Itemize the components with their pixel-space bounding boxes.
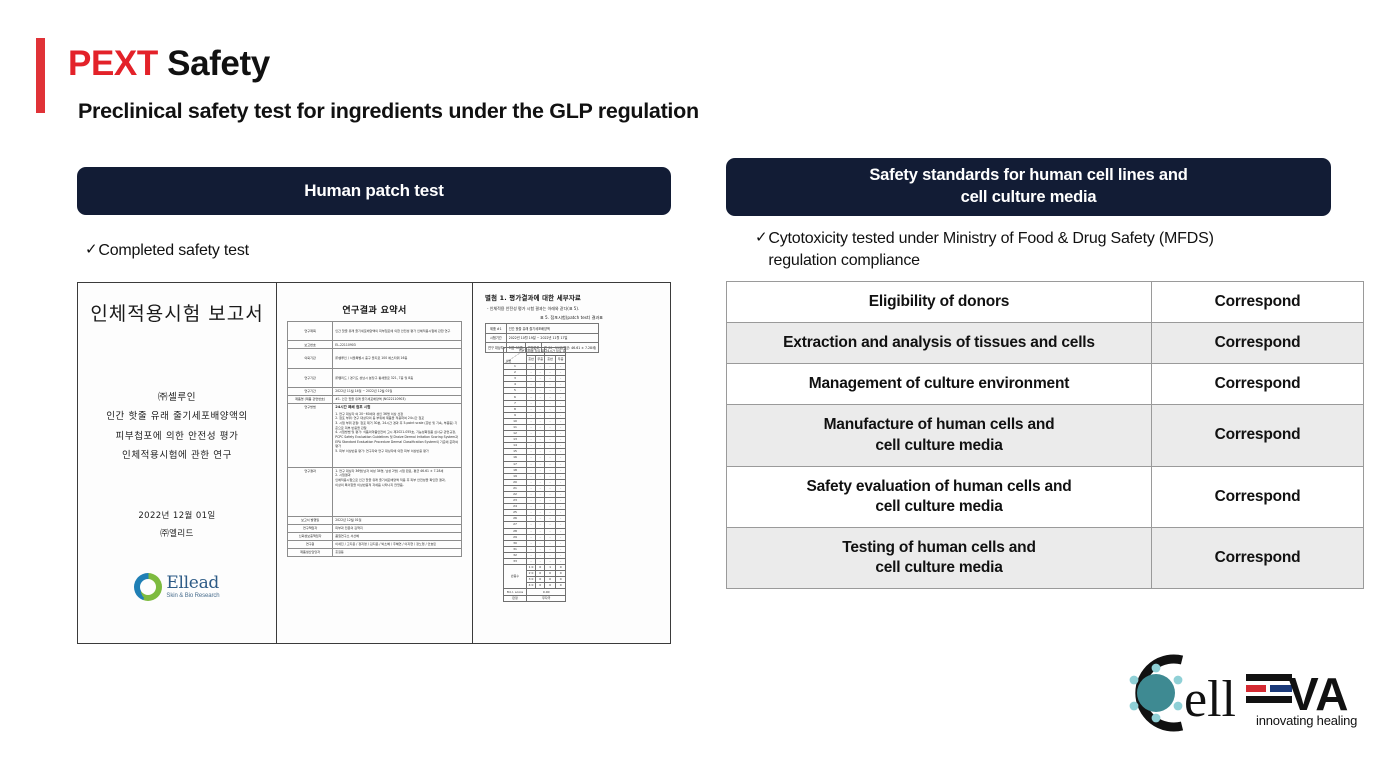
status-badge: Correspond [1152, 466, 1364, 527]
document-page-summary: 연구결과 요약서 연구제목 인간 핫줄 유래 줄기세포배양액의 피부첩포에 의한… [277, 283, 473, 643]
row-value: 홍길동 [333, 548, 462, 556]
row-label: 신뢰성보증책임자 [288, 532, 333, 540]
verdict-label: 판정 [504, 595, 527, 601]
standard-item-line: cell culture media [735, 497, 1143, 517]
bullet-right-text: Cytotoxicity tested under Ministry of Fo… [768, 228, 1213, 271]
standard-item-cell: Eligibility of donors [727, 282, 1152, 323]
table-row: 연구제목 인간 핫줄 유래 줄기세포배양액의 피부첩포에 의한 안전성 평가 인… [288, 322, 462, 341]
row-value-results: 1. 연구 대상자 36명(남자 여성 34명, 남성 2명) 시험 완료, 평… [333, 467, 462, 516]
document-page-detail: 별첨 1. 평가결과에 대한 세부자료 - 인체적용 안전성 평가 시험 결과는… [473, 283, 670, 643]
bullet-right-line2: regulation compliance [768, 252, 919, 269]
standard-item-line: cell culture media [735, 558, 1143, 578]
status-badge: Correspond [1152, 282, 1364, 323]
row-label: 연구기관 [288, 368, 333, 387]
row-value: ㈜엘리드 / 경기도 성남시 분당구 황새울로 321, 7층 및 8층 [333, 368, 462, 387]
table-row: 연구원 이세진 / 고지윤 / 정지영 / 김지윤 / 박소혜 / 주혜연 / … [288, 540, 462, 548]
status-badge: Correspond [1152, 405, 1364, 466]
standard-item-cell: Safety evaluation of human cells andcell… [727, 466, 1152, 527]
table-row: 제품명 (제품 관련번호) #1. 인간 핫줄 유래 줄기세포배양액 (NG22… [288, 396, 462, 404]
row-label: 제품명 (제품 관련번호) [288, 396, 333, 404]
row-value: 2022년 10월 19일 ~ 2022년 11월 17일 [506, 333, 599, 343]
row-label: 의뢰기관 [288, 349, 333, 368]
safety-standards-table: Eligibility of donorsCorrespondExtractio… [726, 281, 1364, 589]
method-line: 4. 시험방법 및 평가: 식품의약품안전처 고시 제2021-055호, 기능… [335, 430, 459, 449]
standard-item-cell: Management of culture environment [727, 364, 1152, 405]
banner-left-label: Human patch test [304, 180, 443, 202]
table-row: Eligibility of donorsCorrespond [727, 282, 1364, 323]
row-value: 피부과 전문의 김혁지 [333, 524, 462, 532]
table-row: Safety evaluation of human cells andcell… [727, 466, 1364, 527]
ellead-tagline: Skin & Bio Research [166, 593, 219, 599]
celleva-logo-svg: ell VA [1120, 648, 1360, 743]
table-row: 시험기간 2022년 10월 19일 ~ 2022년 11월 17일 [486, 333, 599, 343]
method-line: 3. 시험 부위 관찰: 첩포 제거 30분, 24시간 경과 후 5-poin… [335, 421, 459, 430]
status-badge: Correspond [1152, 364, 1364, 405]
table-row: 제품 #1 인간 핫줄 유래 줄기세포배양액 [486, 324, 599, 334]
verdict-row: 판정무자극 [504, 595, 566, 601]
standard-item-cell: Testing of human cells andcell culture m… [727, 527, 1152, 588]
cover-date: 2022년 12월 01일 [78, 508, 276, 526]
cover-organization: ㈜엘리드 [78, 526, 276, 544]
row-value: 인간 핫줄 유래 줄기세포배양액의 피부첩포에 의한 안전성 평가 인체적용시험… [333, 322, 462, 341]
detail-note: - 인체적용 안전성 평가 시험 결과는 아래와 같다(표 5). [487, 306, 662, 312]
cover-line3: 피부첩포에 의한 안전성 평가 [78, 427, 276, 446]
section-banner-safety-standards: Safety standards for human cell lines an… [726, 158, 1331, 216]
cover-line2: 인간 핫줄 유래 줄기세포배양액의 [78, 407, 276, 426]
result-line: 인체적용시험으로 인간 핫줄 유래 줄기세포배양액 적용 후 피부 안전성을 확… [335, 478, 459, 483]
row-value: #1. 인간 핫줄 유래 줄기세포배양액 (NG22110903) [333, 396, 462, 404]
row-value-method: 24시간 폐쇄 첩포 시험 1. 연구 대상자 여 20~60세의 성인 36명… [333, 404, 462, 467]
celleva-tagline: innovating healing [1256, 713, 1357, 728]
corner-bottom-label: 번호 [506, 360, 511, 363]
standard-item-cell: Extraction and analysis of tissues and c… [727, 323, 1152, 364]
standard-item-line: Extraction and analysis of tissues and c… [735, 333, 1143, 353]
table-row: 연구기관 ㈜엘리드 / 경기도 성남시 분당구 황새울로 321, 7층 및 8… [288, 368, 462, 387]
ellead-wordmark: Ellead Skin & Bio Research [166, 575, 219, 599]
cover-date-block: 2022년 12월 01일 ㈜엘리드 [78, 508, 276, 544]
document-page-cover: 인체적용시험 보고서 ㈜셀루인 인간 핫줄 유래 줄기세포배양액의 피부첩포에 … [78, 283, 277, 643]
row-label: 보고번호 [288, 341, 333, 349]
celleva-logo: ell VA innovating healing [1096, 630, 1376, 755]
summary-table: 연구제목 인간 핫줄 유래 줄기세포배양액의 피부첩포에 의한 안전성 평가 인… [287, 321, 462, 557]
table-row: Manufacture of human cells andcell cultu… [727, 405, 1364, 466]
row-label: 연구책임자 [288, 524, 333, 532]
table-row: 제품생산담당자 홍길동 [288, 548, 462, 556]
status-badge: Correspond [1152, 527, 1364, 588]
table-row: Extraction and analysis of tissues and c… [727, 323, 1364, 364]
page-title-accent: PEXT [68, 44, 158, 83]
table-row-method: 연구방법 24시간 폐쇄 첩포 시험 1. 연구 대상자 여 20~60세의 성… [288, 404, 462, 467]
detail-title: 별첨 1. 평가결과에 대한 세부자료 [485, 293, 662, 302]
table-corner-header: 반응 번호 [504, 348, 527, 364]
table-head: 반응 번호 30분 첩포 후 24시간 첩포 후 홍반 무증 홍반 무증 [504, 348, 566, 364]
corner-top-label: 반응 [519, 349, 524, 352]
result-line: 1. 연구 대상자 36명(남자 여성 34명, 남성 2명) 시험 완료, 평… [335, 469, 459, 474]
bullet-cytotoxicity-tested: ✓ Cytotoxicity tested under Ministry of … [755, 228, 1315, 271]
ellead-logo: Ellead Skin & Bio Research [78, 573, 276, 601]
row-value: 품질연구소 서선혜 [333, 532, 462, 540]
celleva-eva-bars-icon [1246, 674, 1292, 703]
banner-right-line2: cell culture media [869, 187, 1187, 209]
standard-item-line: Eligibility of donors [735, 292, 1143, 312]
row-value: 인간 핫줄 유래 줄기세포배양액 [506, 324, 599, 334]
standard-item-line: Manufacture of human cells and [735, 415, 1143, 435]
table-row: Management of culture environmentCorresp… [727, 364, 1364, 405]
detail-caption: 표 5. 첩포시험(patch test) 결과표 [473, 315, 670, 321]
row-value: 2022년 12월 01일 [333, 516, 462, 524]
table-body: 1----2----3----4----5----6----7----8----… [504, 364, 566, 565]
row-value: 2022년 11월 14일 ~ 2022년 12월 01일 [333, 388, 462, 396]
page-subtitle: Preclinical safety test for ingredients … [78, 99, 699, 124]
row-label: 제품생산담당자 [288, 548, 333, 556]
response-count-label: 반응수 [504, 565, 527, 589]
bullet-right-line1: Cytotoxicity tested under Ministry of Fo… [768, 230, 1213, 247]
row-label: 보고서 발행일 [288, 516, 333, 524]
status-badge: Correspond [1152, 323, 1364, 364]
sub-header: 홍반 [527, 356, 536, 364]
method-heading: 24시간 폐쇄 첩포 시험 [335, 405, 459, 410]
row-label: 연구방법 [288, 404, 333, 467]
sub-header: 무증 [555, 356, 566, 364]
group-header: 24시간 첩포 후 [545, 348, 566, 356]
method-line: 5. 피부 이상반응 평가: 연구자와 연구 대상자에 의한 피부 이상반응 평… [335, 449, 459, 454]
standard-item-line: cell culture media [735, 436, 1143, 456]
cover-subject-block: ㈜셀루인 인간 핫줄 유래 줄기세포배양액의 피부첩포에 의한 안전성 평가 인… [78, 388, 276, 466]
section-banner-human-patch-test: Human patch test [77, 167, 671, 215]
check-icon: ✓ [85, 240, 97, 260]
cover-line1: ㈜셀루인 [78, 388, 276, 407]
patch-test-document-image: 인체적용시험 보고서 ㈜셀루인 인간 핫줄 유래 줄기세포배양액의 피부첩포에 … [77, 282, 671, 644]
sub-header: 홍반 [545, 356, 556, 364]
group-header: 30분 첩포 후 [527, 348, 545, 356]
sub-header: 무증 [536, 356, 545, 364]
row-label: 시험기간 [486, 333, 507, 343]
table-row: Testing of human cells andcell culture m… [727, 527, 1364, 588]
row-value: EL-22110903 [333, 341, 462, 349]
ellead-mark-icon [134, 573, 162, 601]
row-label: 연구제목 [288, 322, 333, 341]
row-label: 제품 #1 [486, 324, 507, 334]
bullet-completed-safety-test: ✓ Completed safety test [85, 240, 645, 262]
patch-test-data-table: 반응 번호 30분 첩포 후 24시간 첩포 후 홍반 무증 홍반 무증 1--… [503, 347, 566, 602]
check-icon: ✓ [755, 228, 767, 248]
table-row: 신뢰성보증책임자 품질연구소 서선혜 [288, 532, 462, 540]
result-line: 이상의 특이항을 이상반응적 자세음 나타나지 않았음. [335, 483, 459, 488]
title-accent-bar [36, 38, 45, 113]
standard-item-line: Safety evaluation of human cells and [735, 477, 1143, 497]
table-row: 보고번호 EL-22110903 [288, 341, 462, 349]
bullet-left-text: Completed safety test [98, 240, 249, 262]
celleva-ell-text: ell [1184, 671, 1236, 728]
row-label: 연구기간 [288, 388, 333, 396]
cover-title: 인체적용시험 보고서 [78, 299, 276, 326]
page-title: PEXT Safety [68, 44, 270, 84]
row-label: 연구결과 [288, 467, 333, 516]
table-row: 연구기간 2022년 11월 14일 ~ 2022년 12월 01일 [288, 388, 462, 396]
standard-item-line: Testing of human cells and [735, 538, 1143, 558]
table-row-results: 연구결과 1. 연구 대상자 36명(남자 여성 34명, 남성 2명) 시험 … [288, 467, 462, 516]
table-header-row: 반응 번호 30분 첩포 후 24시간 첩포 후 [504, 348, 566, 356]
table-row: 의뢰기관 ㈜셀루인 / 서울특별시 중구 을지로 100 에스타워 16층 [288, 349, 462, 368]
standard-item-cell: Manufacture of human cells andcell cultu… [727, 405, 1152, 466]
page-title-rest: Safety [167, 44, 270, 83]
row-label: 연구원 [288, 540, 333, 548]
cover-line4: 인체적용시험에 관한 연구 [78, 446, 276, 465]
verdict-value: 무자극 [527, 595, 566, 601]
summary-title: 연구결과 요약서 [277, 303, 472, 316]
row-value: ㈜셀루인 / 서울특별시 중구 을지로 100 에스타워 16층 [333, 349, 462, 368]
table-row: 연구책임자 피부과 전문의 김혁지 [288, 524, 462, 532]
banner-right-line1: Safety standards for human cell lines an… [869, 165, 1187, 187]
standard-item-line: Management of culture environment [735, 374, 1143, 394]
table-foot: 반응수1 00102 00003 00004 0000M.I.I. score0… [504, 565, 566, 602]
slide-root: PEXT Safety Preclinical safety test for … [0, 0, 1386, 780]
ellead-name: Ellead [166, 575, 219, 592]
table-row: 보고서 발행일 2022년 12월 01일 [288, 516, 462, 524]
celleva-c-ring-icon [1130, 659, 1183, 727]
row-value: 이세진 / 고지윤 / 정지영 / 김지윤 / 박소혜 / 주혜연 / 이지현 … [333, 540, 462, 548]
